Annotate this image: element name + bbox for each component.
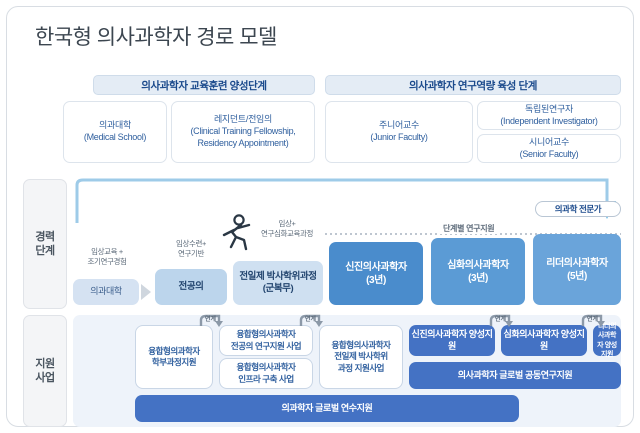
card-independent-investigator: 독립된연구자 (Independent Investigator) bbox=[477, 101, 621, 130]
card-senior-faculty: 시니어교수 (Senior Faculty) bbox=[477, 134, 621, 163]
support-box-infra: 융합형의사과학자 인프라 구축 사업 bbox=[219, 358, 313, 389]
page-title: 한국형 의사과학자 경로 모델 bbox=[35, 21, 277, 51]
chip-leader-scientist: 리더의사과학자 (5년) bbox=[533, 234, 621, 305]
support-box-fulltime-phd: 융합형의사과학자 전일제 박사학위 과정 지원사업 bbox=[319, 325, 403, 389]
support-box-advanced: 심화의사과학자 양성지원 bbox=[501, 325, 587, 356]
svg-text:연계: 연계 bbox=[305, 315, 317, 323]
annotation-resident: 임상수련+ 연구기반 bbox=[153, 239, 229, 259]
support-box-undergrad: 융합형의과학자 학부과정지원 bbox=[135, 325, 213, 389]
sidebar-label-support-project: 지원 사업 bbox=[23, 315, 67, 427]
svg-text:연계: 연계 bbox=[495, 315, 507, 323]
link-arrow-icon: 연계 bbox=[577, 313, 611, 329]
chip-resident: 전공의 bbox=[155, 269, 227, 305]
header-research-stage: 의사과학자 연구역량 육성 단계 bbox=[325, 75, 621, 95]
runner-icon bbox=[219, 213, 253, 253]
status-badge-expert: 의과학 전문가 bbox=[535, 201, 621, 217]
svg-text:연계: 연계 bbox=[587, 315, 599, 323]
card-medical-school: 의과대학 (Medical School) bbox=[63, 101, 167, 163]
link-arrow-icon: 연계 bbox=[295, 313, 329, 329]
support-box-global-training: 의과학자 글로벌 연수지원 bbox=[135, 395, 519, 422]
annotation-phd: 임상+ 연구심화교육과정 bbox=[243, 219, 331, 239]
support-box-major-research: 융합형의사과학자 전공의 연구지원 사업 bbox=[219, 325, 313, 356]
support-box-new: 신진의사과학자 양성지원 bbox=[409, 325, 495, 356]
card-residency: 레지던트/전임의 (Clinical Training Fellowship, … bbox=[171, 101, 315, 163]
triangle-arrow-icon bbox=[141, 284, 151, 300]
chip-medical-school: 의과대학 bbox=[73, 279, 139, 305]
link-arrow-icon: 연계 bbox=[485, 313, 519, 329]
chip-advanced-scientist: 심화의사과학자 (3년) bbox=[431, 238, 525, 305]
sidebar-label-career-stage: 경력 단계 bbox=[23, 179, 67, 309]
chip-fulltime-phd: 전일제 박사학위과정 (군복무) bbox=[233, 261, 323, 305]
link-arrow-icon: 연계 bbox=[195, 313, 229, 329]
annotation-medical: 임상교육 + 조기연구경험 bbox=[69, 247, 145, 267]
header-education-stage: 의사과학자 교육훈련 양성단계 bbox=[93, 75, 315, 95]
diagram-frame: 한국형 의사과학자 경로 모델 의사과학자 교육훈련 양성단계 의사과학자 연구… bbox=[6, 6, 634, 427]
svg-text:연계: 연계 bbox=[205, 315, 217, 323]
chip-new-scientist: 신진의사과학자 (3년) bbox=[329, 242, 423, 305]
support-box-global-joint: 의사과학자 글로벌 공동연구지원 bbox=[409, 362, 621, 389]
dotted-line-label: 단계별 연구지원 bbox=[439, 223, 498, 234]
card-junior-faculty: 주니어교수 (Junior Faculty) bbox=[325, 101, 473, 163]
support-box-leader: 리더의사과학자 양성지원 bbox=[593, 325, 621, 356]
